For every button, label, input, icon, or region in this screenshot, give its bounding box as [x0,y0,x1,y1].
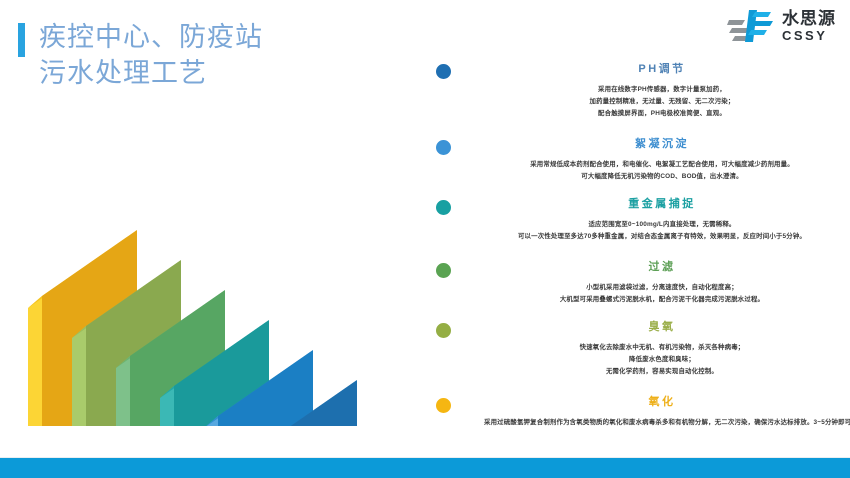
step-body-line: 无需化学药剂，容易实现自动化控制。 [484,366,840,378]
step-title-oxidation: 氧化 [484,393,840,409]
step-bullet-filtration-icon [436,263,451,278]
brand-name-cn: 水思源 [782,10,836,27]
process-step-filtration: 过滤小型机采用滤袋过滤，分离速度快，自动化程度高；大机型可采用叠螺式污泥脱水机，… [432,258,844,306]
step-bullet-ph-adjustment-icon [436,64,451,79]
step-body-flocculation-sedimentation: 采用常规低成本药剂配合使用，和电催化、电絮凝工艺配合使用，可大幅度减少药剂用量。… [484,159,840,183]
brand-logo: 水思源 CSSY [727,8,836,44]
step-body-filtration: 小型机采用滤袋过滤，分离速度快，自动化程度高；大机型可采用叠螺式污泥脱水机，配合… [484,282,840,306]
slide-canvas: 疾控中心、防疫站 污水处理工艺 水思源 CSSY [0,0,850,478]
step-title-heavy-metal-capture: 重金属捕捉 [484,195,840,211]
title-accent-bar [18,23,25,57]
process-step-ph-adjustment: PH调节采用在线数字PH传感器，数字计量泵加药，加药量控制精准，无过量、无残留、… [432,60,844,120]
step-body-line: 加药量控制精准，无过量、无残留、无二次污染； [484,96,840,108]
brand-name-en: CSSY [782,29,836,42]
process-step-flocculation-sedimentation: 絮凝沉淀采用常规低成本药剂配合使用，和电催化、电絮凝工艺配合使用，可大幅度减少药… [432,135,844,183]
step-body-line: 小型机采用滤袋过滤，分离速度快，自动化程度高； [484,282,840,294]
step-bullet-ozone-icon [436,323,451,338]
step-body-line: 降低废水色度和臭味； [484,354,840,366]
step-bullet-heavy-metal-capture-icon [436,200,451,215]
step-body-oxidation: 采用过硫酸氢钾复合制剂作为含氧类物质的氧化和废水病毒杀多和有机物分解，无二次污染… [484,417,840,429]
step-title-ph-adjustment: PH调节 [484,60,840,76]
process-step-heavy-metal-capture: 重金属捕捉适应范围宽至0~100mg/L内直接处理，无需稀释。可以一次性处理至多… [432,195,844,243]
step-title-filtration: 过滤 [484,258,840,274]
step-body-ph-adjustment: 采用在线数字PH传感器，数字计量泵加药，加药量控制精准，无过量、无残留、无二次污… [484,84,840,120]
title-line-1: 疾控中心、防疫站 [39,20,263,56]
cssy-logo-icon [727,8,775,44]
step-body-line: 配合触摸屏界面，PH电极校准简便、直观。 [484,108,840,120]
step-body-line: 大机型可采用叠螺式污泥脱水机，配合污泥干化器完成污泥脱水过程。 [484,294,840,306]
layered-panels-diagram [18,96,418,426]
step-bullet-oxidation-icon [436,398,451,413]
step-body-line: 可大幅度降低无机污染物的COD、BOD值，出水澄清。 [484,171,840,183]
title-line-2: 污水处理工艺 [39,56,263,92]
step-title-flocculation-sedimentation: 絮凝沉淀 [484,135,840,151]
process-step-oxidation: 氧化采用过硫酸氢钾复合制剂作为含氧类物质的氧化和废水病毒杀多和有机物分解，无二次… [432,393,844,429]
page-title: 疾控中心、防疫站 污水处理工艺 [18,20,263,91]
step-body-line: 适应范围宽至0~100mg/L内直接处理，无需稀释。 [484,219,840,231]
step-body-ozone: 快速氧化去除废水中无机、有机污染物，杀灭各种病毒；降低废水色度和臭味；无需化学药… [484,342,840,378]
brand-name: 水思源 CSSY [782,10,836,42]
step-bullet-flocculation-sedimentation-icon [436,140,451,155]
step-body-line: 采用过硫酸氢钾复合制剂作为含氧类物质的氧化和废水病毒杀多和有机物分解，无二次污染… [484,417,840,429]
step-body-line: 可以一次性处理至多达70多种重金属，对结合态金属离子有特效，效果明显，反应时间小… [484,231,840,243]
step-body-heavy-metal-capture: 适应范围宽至0~100mg/L内直接处理，无需稀释。可以一次性处理至多达70多种… [484,219,840,243]
step-body-line: 采用在线数字PH传感器，数字计量泵加药， [484,84,840,96]
footer-bar [0,458,850,478]
step-body-line: 采用常规低成本药剂配合使用，和电催化、电絮凝工艺配合使用，可大幅度减少药剂用量。 [484,159,840,171]
title-lines: 疾控中心、防疫站 污水处理工艺 [39,20,263,91]
step-body-line: 快速氧化去除废水中无机、有机污染物，杀灭各种病毒； [484,342,840,354]
process-step-ozone: 臭氧快速氧化去除废水中无机、有机污染物，杀灭各种病毒；降低废水色度和臭味；无需化… [432,318,844,378]
step-title-ozone: 臭氧 [484,318,840,334]
